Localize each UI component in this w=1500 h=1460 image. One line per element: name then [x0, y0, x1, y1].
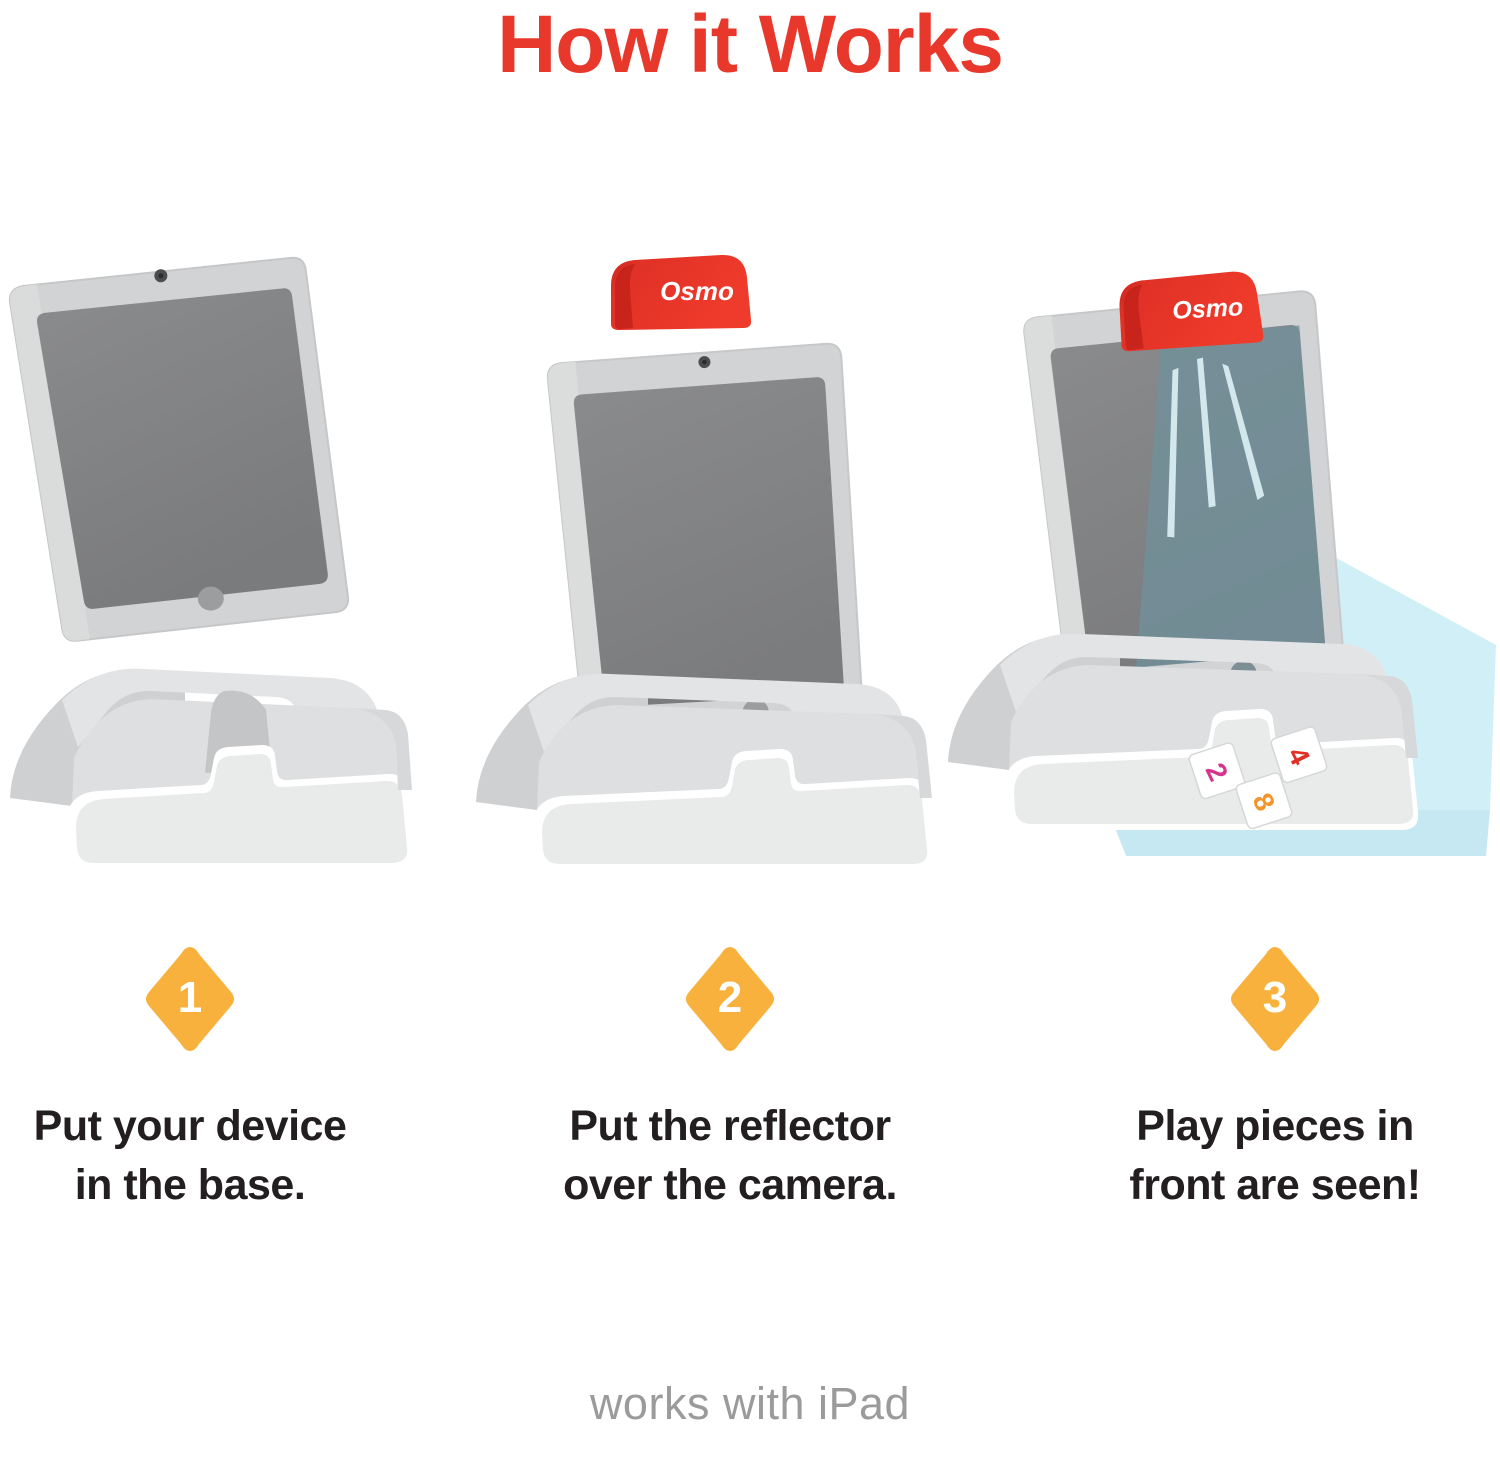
- step-caption: Play pieces in front are seen!: [1045, 1097, 1500, 1216]
- step-number: 3: [1228, 945, 1322, 1053]
- step-caption: Put your device in the base.: [0, 1097, 420, 1216]
- step-2: 2 Put the reflector over the camera.: [500, 945, 960, 1216]
- step-3: 3 Play pieces in front are seen!: [1045, 945, 1500, 1216]
- osmo-reflector: Osmo: [1118, 270, 1264, 351]
- osmo-wordmark: Osmo: [1172, 293, 1244, 325]
- osmo-base: [10, 669, 412, 870]
- steps-list: 1 Put your device in the base. 2 Put the…: [0, 945, 1500, 1245]
- page-title: How it Works: [0, 4, 1500, 86]
- illustration-step-3: Osmo 2: [930, 250, 1500, 870]
- osmo-wordmark: Osmo: [660, 276, 734, 306]
- step-badge-3: 3: [1228, 945, 1322, 1053]
- illustration-step-2: Osmo: [460, 250, 960, 870]
- step-caption: Put the reflector over the camera.: [500, 1097, 960, 1216]
- works-with-note: works with iPad: [0, 1378, 1500, 1430]
- tablet-device: [8, 256, 349, 643]
- illustration-panels: Osmo: [0, 250, 1500, 870]
- how-it-works-infographic: How it Works: [0, 0, 1500, 1460]
- step-badge-1: 1: [143, 945, 237, 1053]
- step-1: 1 Put your device in the base.: [0, 945, 420, 1216]
- osmo-reflector: Osmo: [611, 255, 751, 330]
- step-badge-2: 2: [683, 945, 777, 1053]
- illustration-step-1: [0, 250, 440, 870]
- step-number: 2: [683, 945, 777, 1053]
- step-number: 1: [143, 945, 237, 1053]
